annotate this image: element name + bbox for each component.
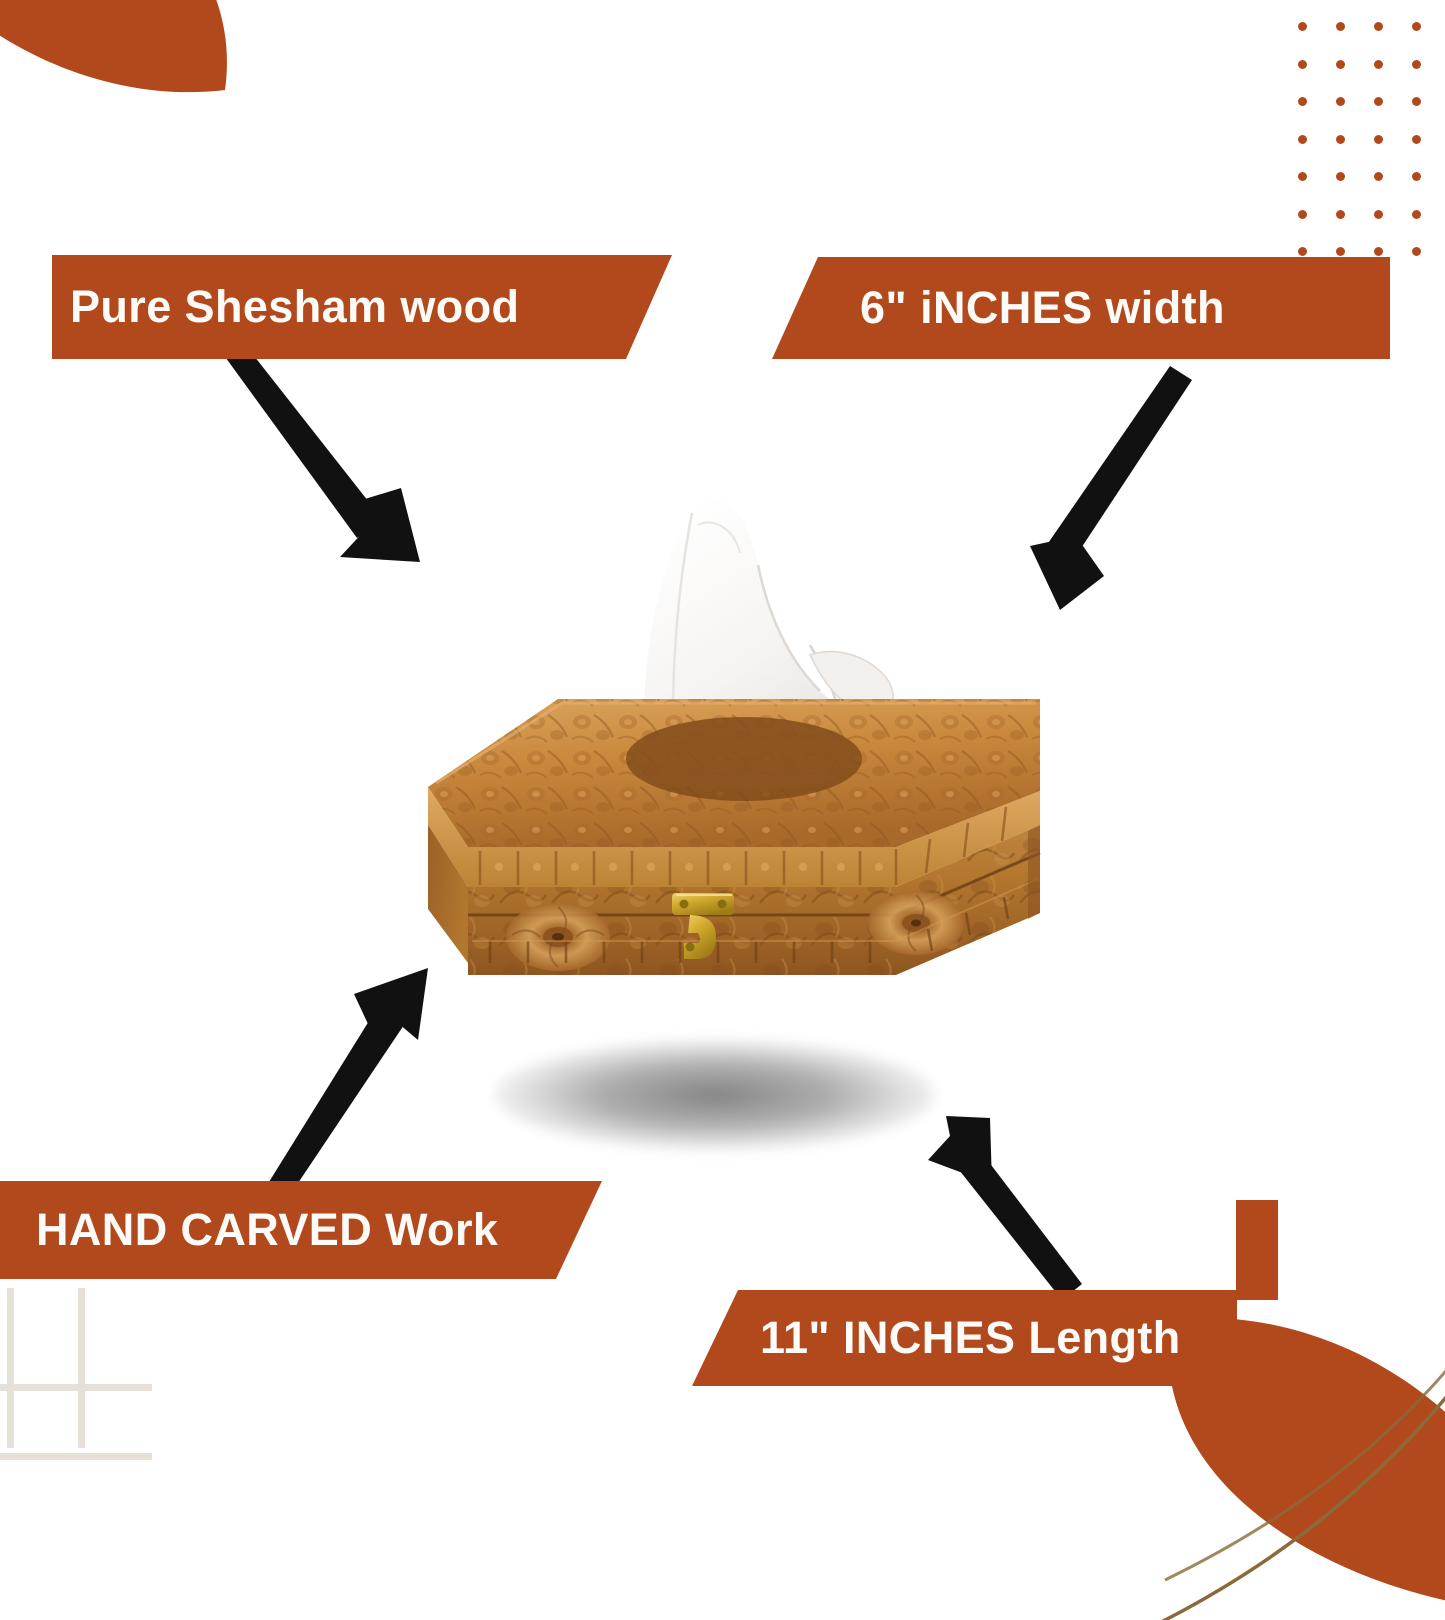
product-shadow <box>495 1040 935 1150</box>
feature-banner-label: HAND CARVED Work <box>36 1204 498 1256</box>
feature-banner-length[interactable]: 11" INCHES Length <box>692 1290 1237 1386</box>
carved-rosette-left <box>506 903 610 971</box>
dot <box>1412 172 1421 181</box>
leaf-icon-top-left <box>0 0 260 220</box>
dot <box>1336 172 1345 181</box>
dot <box>1412 247 1421 256</box>
grid-line-horizontal <box>0 1384 152 1391</box>
hand-carved-wooden-tissue-box <box>340 495 1080 1005</box>
feature-banner-craftsmanship[interactable]: HAND CARVED Work <box>0 1181 602 1279</box>
dot <box>1336 22 1345 31</box>
feature-banner-label: 11" INCHES Length <box>760 1312 1181 1364</box>
dot <box>1374 22 1383 31</box>
dot <box>1412 210 1421 219</box>
dot <box>1298 60 1307 69</box>
feature-banner-material[interactable]: Pure Shesham wood <box>52 255 672 359</box>
feature-banner-label: 6" iNCHES width <box>860 282 1225 334</box>
dot <box>1412 22 1421 31</box>
dot <box>1336 210 1345 219</box>
box-right-side <box>1028 825 1040 919</box>
dot <box>1298 22 1307 31</box>
feature-banner-width[interactable]: 6" iNCHES width <box>772 257 1390 359</box>
dot <box>1374 247 1383 256</box>
dot <box>1412 60 1421 69</box>
dot <box>1298 97 1307 106</box>
grid-line-horizontal <box>0 1453 152 1460</box>
box-lid-top <box>428 699 1040 847</box>
dot <box>1298 210 1307 219</box>
dot-grid-icon <box>1298 22 1445 285</box>
dot <box>1336 247 1345 256</box>
dot <box>1374 60 1383 69</box>
arrow-up-left-icon <box>910 1088 1085 1303</box>
carved-rosette-right <box>868 891 964 955</box>
arrow-up-right-icon <box>258 958 438 1198</box>
dot <box>1298 247 1307 256</box>
grid-line-vertical <box>78 1288 85 1448</box>
square-icon <box>1236 1200 1278 1300</box>
grid-line-vertical <box>7 1288 14 1448</box>
grid-lines-icon <box>0 1288 170 1448</box>
arrow-down-right-icon <box>215 352 435 587</box>
dot <box>1374 210 1383 219</box>
dot <box>1374 172 1383 181</box>
dot <box>1298 172 1307 181</box>
dot <box>1298 135 1307 144</box>
dot <box>1412 97 1421 106</box>
dot <box>1374 97 1383 106</box>
leaf-icon-bottom-right <box>1135 1190 1445 1620</box>
product-image-container <box>340 495 1080 1175</box>
arrow-down-left-icon <box>1000 360 1200 610</box>
dot <box>1412 135 1421 144</box>
dot <box>1374 135 1383 144</box>
feature-banner-label: Pure Shesham wood <box>70 281 519 333</box>
dot <box>1336 60 1345 69</box>
dot <box>1336 135 1345 144</box>
dot <box>1336 97 1345 106</box>
